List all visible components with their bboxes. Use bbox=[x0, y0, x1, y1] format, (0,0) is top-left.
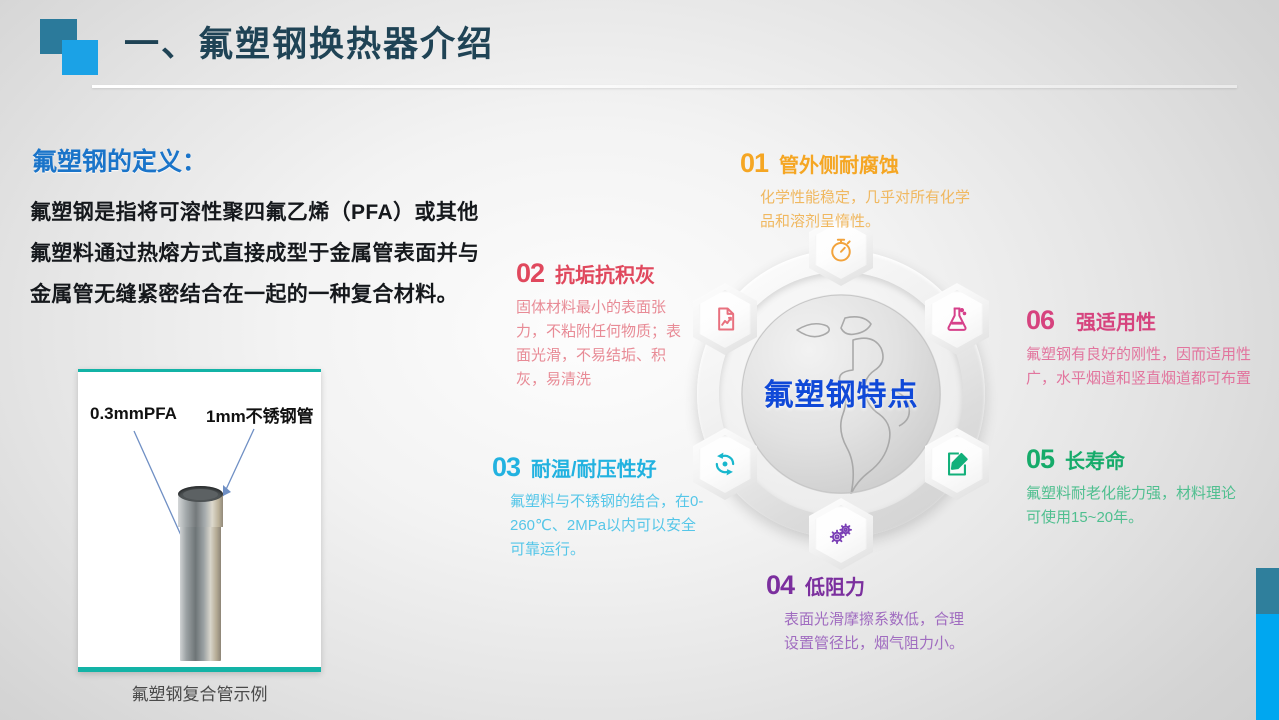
slide-root: 一、氟塑钢换热器介绍 氟塑钢的定义： 氟塑钢是指将可溶性聚四氟乙烯（PFA）或其… bbox=[0, 0, 1279, 720]
feature-number: 02 bbox=[516, 258, 544, 289]
feature-title: 耐温/耐压性好 bbox=[531, 453, 657, 482]
feature-header: 05 长寿命 bbox=[1026, 444, 1241, 475]
feature-item-05: 05 长寿命 氟塑料耐老化能力强，材料理论可使用15~20年。 bbox=[1026, 444, 1241, 530]
feature-number: 06 bbox=[1026, 305, 1054, 336]
wheel-node-gears[interactable] bbox=[809, 498, 873, 570]
feature-number: 05 bbox=[1026, 444, 1054, 475]
feature-header: 03 耐温/耐压性好 bbox=[492, 452, 707, 483]
feature-title: 强适用性 bbox=[1076, 306, 1156, 335]
accent-block-light bbox=[1256, 614, 1279, 720]
header-divider bbox=[92, 85, 1237, 88]
photo-bottom-accent bbox=[78, 667, 321, 672]
slide-header: 一、氟塑钢换热器介绍 bbox=[0, 0, 1279, 92]
feature-item-06: 06 强适用性 氟塑钢有良好的刚性，因而适用性广，水平烟道和竖直烟道都可布置 bbox=[1026, 305, 1256, 391]
logo-square-light-icon bbox=[62, 40, 98, 75]
feature-wheel: 氟塑钢特点 bbox=[697, 250, 985, 538]
feature-item-04: 04 低阻力 表面光滑摩擦系数低，合理设置管径比，烟气阻力小。 bbox=[766, 570, 971, 656]
feature-description: 化学性能稳定，几乎对所有化学品和溶剂呈惰性。 bbox=[760, 186, 970, 234]
feature-number: 01 bbox=[740, 148, 768, 179]
pipe-photo-card: 0.3mmPFA 1mm不锈钢管 bbox=[78, 369, 321, 672]
feature-header: 01 管外侧耐腐蚀 bbox=[740, 148, 970, 179]
feature-title: 管外侧耐腐蚀 bbox=[779, 149, 899, 178]
wheel-node-flask[interactable] bbox=[925, 283, 989, 355]
wheel-node-edit[interactable] bbox=[925, 428, 989, 500]
feature-description: 氟塑料与不锈钢的结合，在0-260℃、2MPa以内可以安全可靠运行。 bbox=[510, 490, 707, 562]
feature-item-02: 02 抗垢抗积灰 固体材料最小的表面张力，不粘附任何物质；表面光滑，不易结垢、积… bbox=[516, 258, 691, 392]
feature-description: 氟塑料耐老化能力强，材料理论可使用15~20年。 bbox=[1026, 482, 1241, 530]
feature-number: 03 bbox=[492, 452, 520, 483]
photo-caption: 氟塑钢复合管示例 bbox=[78, 680, 321, 705]
feature-title: 抗垢抗积灰 bbox=[555, 259, 655, 288]
wheel-center-label: 氟塑钢特点 bbox=[697, 370, 985, 414]
pipe-bore-image bbox=[183, 489, 218, 500]
feature-description: 固体材料最小的表面张力，不粘附任何物质；表面光滑，不易结垢、积灰，易清洗 bbox=[516, 296, 691, 392]
flask-icon bbox=[925, 283, 989, 355]
feature-title: 长寿命 bbox=[1065, 445, 1125, 474]
feature-item-03: 03 耐温/耐压性好 氟塑料与不锈钢的结合，在0-260℃、2MPa以内可以安全… bbox=[492, 452, 707, 562]
page-title: 一、氟塑钢换热器介绍 bbox=[124, 16, 494, 67]
accent-block-dark bbox=[1256, 568, 1279, 614]
gears-icon bbox=[809, 498, 873, 570]
feature-number: 04 bbox=[766, 570, 794, 601]
definition-body: 氟塑钢是指将可溶性聚四氟乙烯（PFA）或其他氟塑料通过热熔方式直接成型于金属管表… bbox=[30, 192, 482, 315]
feature-header: 06 强适用性 bbox=[1026, 305, 1256, 336]
feature-header: 04 低阻力 bbox=[766, 570, 971, 601]
definition-heading: 氟塑钢的定义： bbox=[32, 142, 207, 178]
report-icon bbox=[693, 283, 757, 355]
feature-description: 氟塑钢有良好的刚性，因而适用性广，水平烟道和竖直烟道都可布置 bbox=[1026, 343, 1256, 391]
edit-doc-icon bbox=[925, 428, 989, 500]
feature-item-01: 01 管外侧耐腐蚀 化学性能稳定，几乎对所有化学品和溶剂呈惰性。 bbox=[740, 148, 970, 234]
feature-description: 表面光滑摩擦系数低，合理设置管径比，烟气阻力小。 bbox=[784, 608, 971, 656]
feature-title: 低阻力 bbox=[805, 571, 865, 600]
feature-header: 02 抗垢抗积灰 bbox=[516, 258, 691, 289]
wheel-node-report[interactable] bbox=[693, 283, 757, 355]
pipe-body-image bbox=[180, 521, 221, 661]
